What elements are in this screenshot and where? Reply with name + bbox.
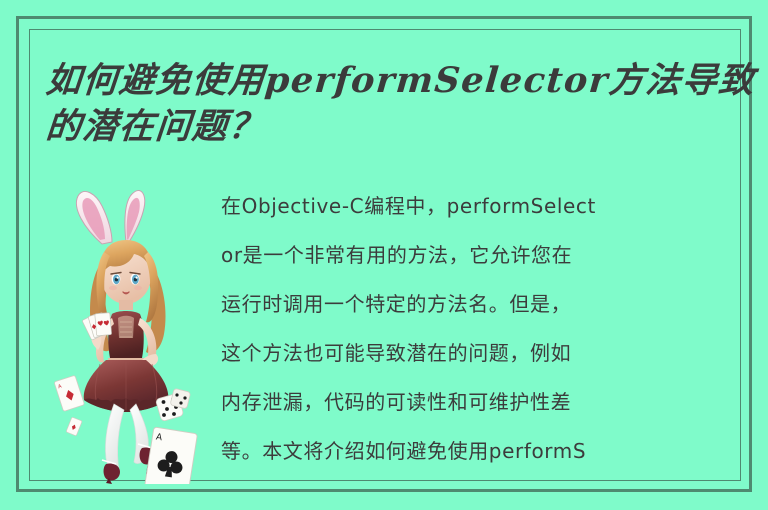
bunny-ears-icon	[76, 191, 144, 244]
body-line-3: 运行时调用一个特定的方法名。但是，	[221, 280, 737, 329]
bunny-girl-illustration: A	[40, 172, 212, 484]
article-body: 在Objective-C编程中，performSelect or是一个非常有用的…	[221, 182, 737, 476]
floating-card-diamond: A	[54, 375, 85, 411]
ace-of-clubs-card: A	[144, 427, 197, 484]
poster-canvas: 如何避免使用performSelector方法导致 的潜在问题？	[0, 0, 768, 510]
body-line-6: 等。本文将介绍如何避免使用performS	[221, 427, 737, 476]
body-line-4: 这个方法也可能导致潜在的问题，例如	[221, 329, 737, 378]
body-line-1: 在Objective-C编程中，performSelect	[221, 182, 737, 231]
title-line-2: 的潜在问题？	[44, 104, 718, 150]
floating-card-small	[66, 417, 82, 436]
body-line-5: 内存泄漏，代码的可读性和可维护性差	[221, 378, 737, 427]
title-line-1: 如何避免使用performSelector方法导致	[44, 58, 718, 104]
ruffled-skirt	[84, 360, 169, 412]
page-title: 如何避免使用performSelector方法导致 的潜在问题？	[46, 58, 716, 150]
body-line-2: or是一个非常有用的方法，它允许您在	[221, 231, 737, 280]
